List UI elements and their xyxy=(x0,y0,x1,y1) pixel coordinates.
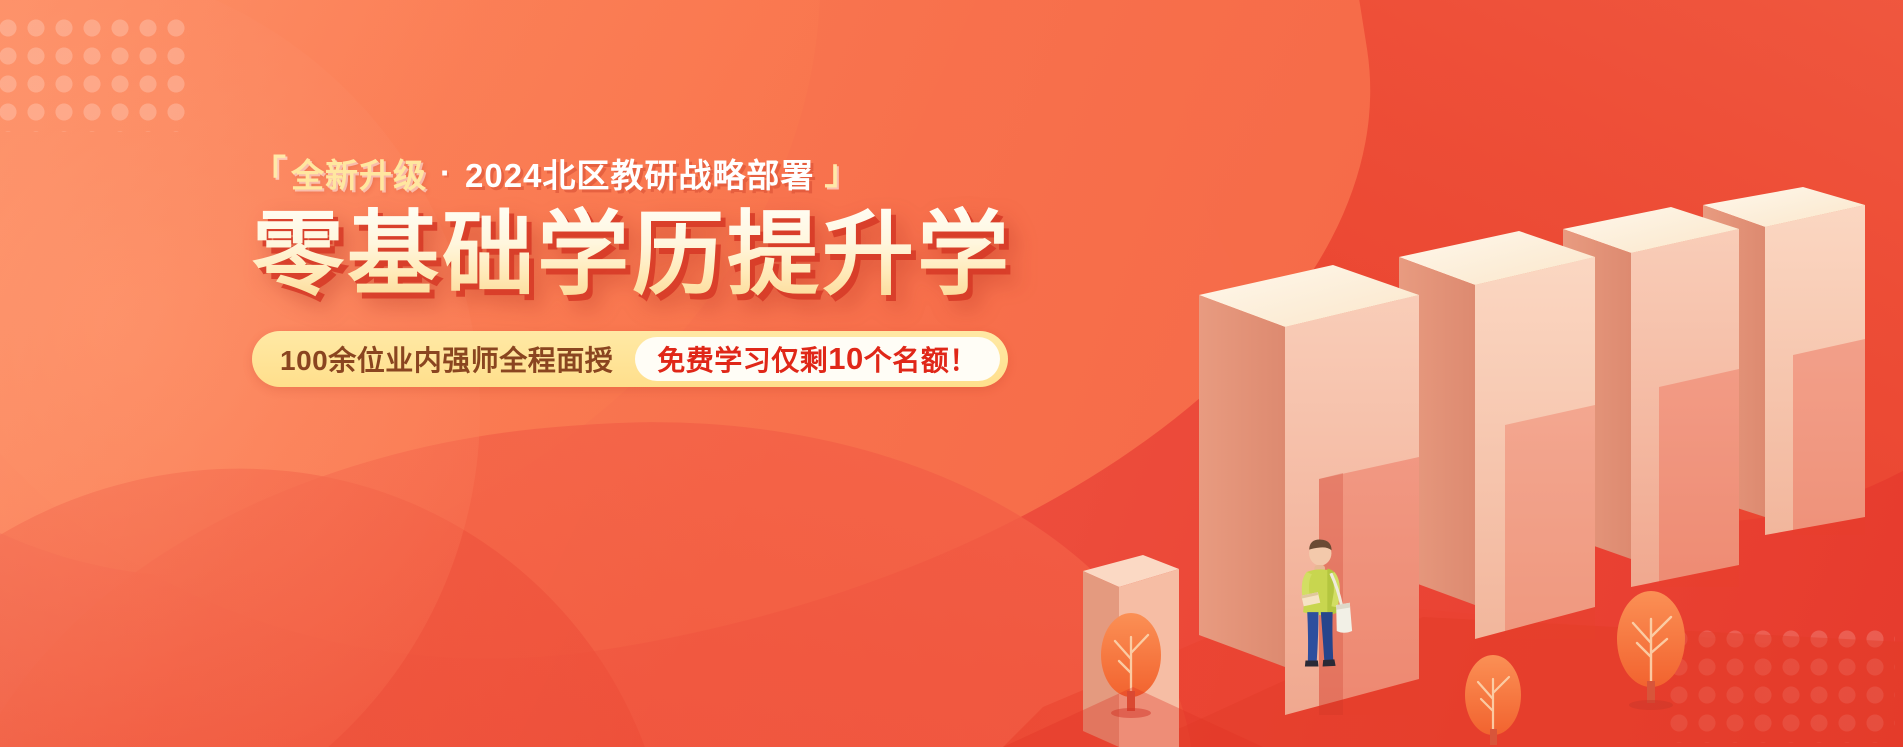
subtitle-main: 2024北区教研战略部署 xyxy=(465,149,814,197)
subtitle: 「 全新升级 · 2024北区教研战略部署 」 xyxy=(252,150,1012,196)
bracket-close-icon: 」 xyxy=(824,156,859,190)
badge-slots-prefix: 免费学习仅剩 xyxy=(657,339,828,379)
offer-badge: 100余位业内强师全程面授 免费学习仅剩10个名额！ xyxy=(252,331,1008,387)
subtitle-highlight: 全新升级 xyxy=(291,149,427,197)
subtitle-separator-icon: · xyxy=(440,154,452,192)
bracket-open-icon: 「 xyxy=(252,156,287,190)
promo-banner: 「 全新升级 · 2024北区教研战略部署 」 零基础学历提升学霸班 100余位… xyxy=(0,0,1903,747)
badge-slots-pill: 免费学习仅剩10个名额！ xyxy=(635,337,1000,381)
page-title: 零基础学历提升学霸班 xyxy=(252,206,1012,305)
badge-teachers-label: 100余位业内强师全程面授 xyxy=(280,339,635,379)
text-block: 「 全新升级 · 2024北区教研战略部署 」 零基础学历提升学霸班 100余位… xyxy=(252,150,1012,387)
badge-slots-suffix: 个名额！ xyxy=(864,339,978,379)
badge-slots-count: 10 xyxy=(828,341,863,377)
